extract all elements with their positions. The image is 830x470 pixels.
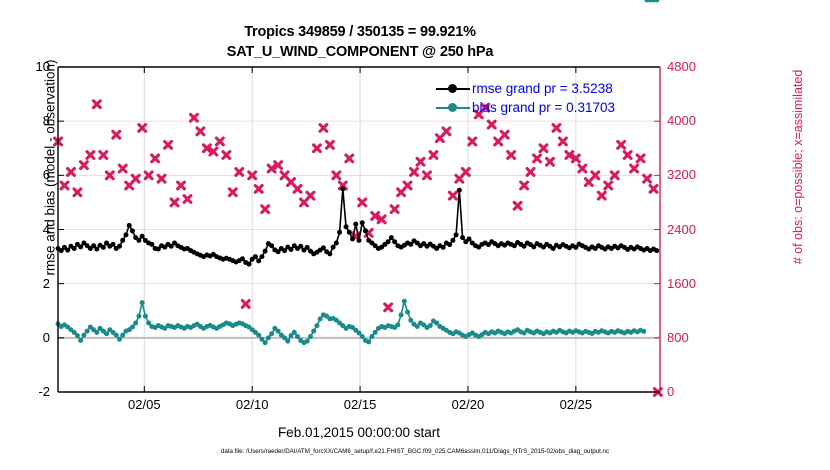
- y-tick-label-right: 0: [667, 385, 715, 398]
- rmse-series-line: [56, 186, 660, 266]
- y-tick-label-right: 800: [667, 331, 715, 344]
- x-tick-label: 02/20: [433, 397, 503, 412]
- y-tick-label-left: 10: [10, 60, 50, 73]
- x-tick-label: 02/15: [325, 397, 395, 412]
- y-tick-label-left: -2: [10, 385, 50, 398]
- legend-marker-rmse-icon: [436, 82, 470, 96]
- x-tick-label: 02/10: [217, 397, 287, 412]
- y-tick-label-right: 2400: [667, 223, 715, 236]
- y-tick-label-right: 3200: [667, 168, 715, 181]
- y-tick-label-left: 4: [10, 223, 50, 236]
- chart-figure: Tropics 349859 / 350135 = 99.921% SAT_U_…: [0, 0, 830, 470]
- legend-marker-bias-icon: [436, 101, 470, 115]
- x-tick-label: 02/25: [541, 397, 611, 412]
- legend-label-rmse: rmse grand pr = 3.5238: [472, 81, 613, 96]
- y-tick-label-left: 8: [10, 114, 50, 127]
- y-tick-label-right: 4800: [667, 60, 715, 73]
- chart-legend: rmse grand pr = 3.5238 bias grand pr = 0…: [432, 78, 619, 119]
- legend-item-bias[interactable]: bias grand pr = 0.31703: [436, 98, 615, 117]
- legend-label-bias: bias grand pr = 0.31703: [472, 100, 615, 115]
- y-tick-label-left: 6: [10, 168, 50, 181]
- legend-item-rmse[interactable]: rmse grand pr = 3.5238: [436, 79, 615, 98]
- y-tick-label-left: 2: [10, 277, 50, 290]
- y-tick-label-right: 1600: [667, 277, 715, 290]
- x-tick-label: 02/05: [109, 397, 179, 412]
- y-tick-label-right: 4000: [667, 114, 715, 127]
- y-tick-label-left: 0: [10, 331, 50, 344]
